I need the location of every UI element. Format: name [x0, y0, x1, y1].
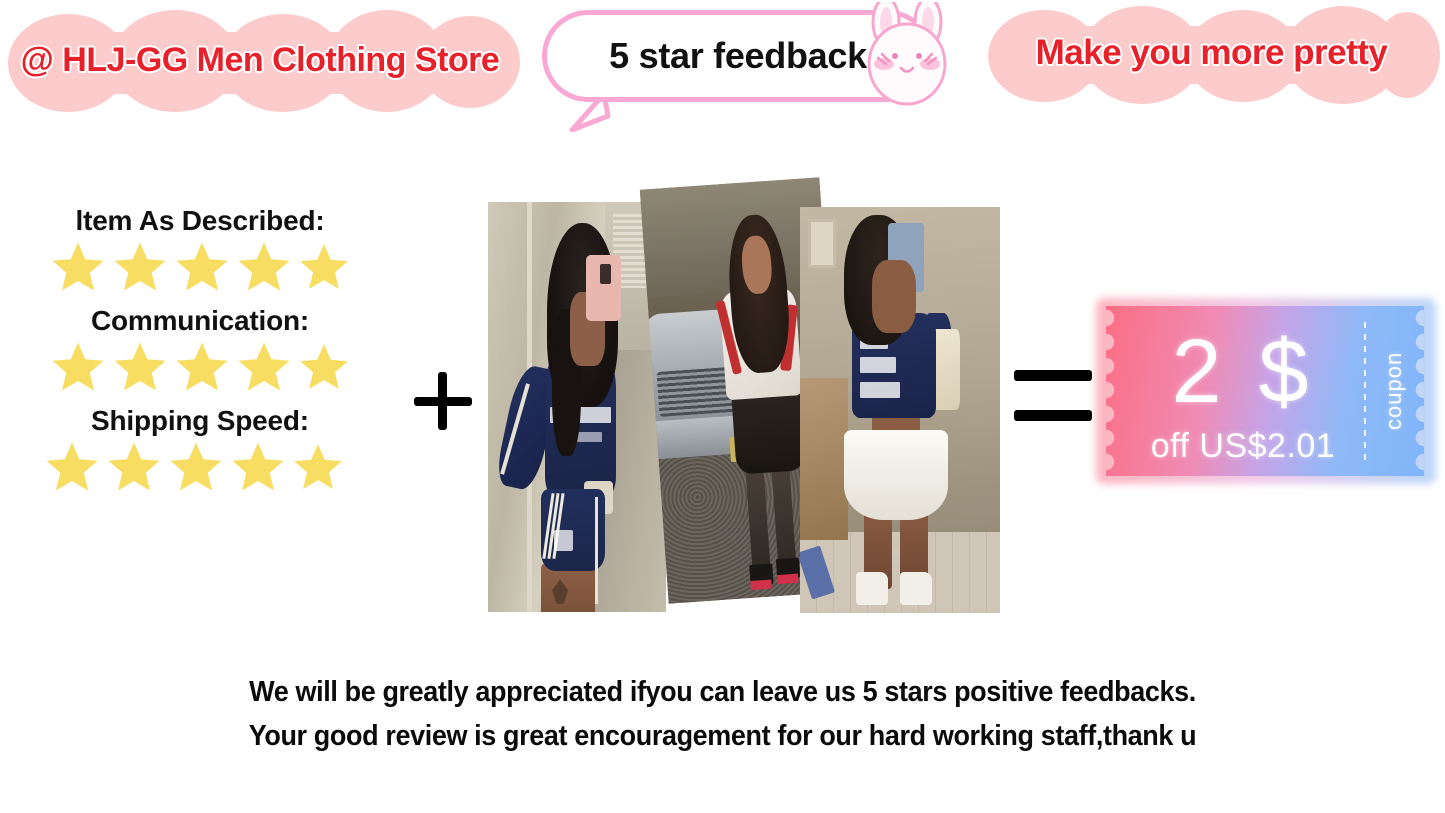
footer-message: We will be greatly appreciated ifyou can…	[0, 670, 1445, 758]
rating-label: ltem As Described:	[0, 205, 400, 237]
star-icon	[47, 237, 109, 297]
star-icon	[165, 437, 227, 497]
star-icon	[289, 439, 347, 495]
customer-photo-3	[800, 207, 1000, 613]
star-rating-row	[0, 237, 400, 297]
coupon-off-text: off US$2.01	[1124, 424, 1362, 468]
rating-label: Shipping Speed:	[0, 405, 400, 437]
slogan-banner: Make you more pretty	[978, 0, 1445, 105]
star-icon	[233, 237, 295, 297]
star-icon	[109, 337, 171, 397]
rating-communication: Communication:	[0, 305, 400, 397]
customer-photo-collage	[486, 175, 1006, 620]
store-name-text: @ HLJ-GG Men Clothing Store	[0, 6, 520, 114]
footer-line-1: We will be greatly appreciated ifyou can…	[51, 670, 1395, 714]
slogan-text: Make you more pretty	[978, 0, 1445, 105]
store-name-banner: @ HLJ-GG Men Clothing Store	[0, 6, 520, 114]
star-icon	[233, 337, 295, 397]
feedback-bubble: 5 star feedback	[540, 4, 960, 129]
customer-photo-1	[488, 202, 666, 612]
star-icon	[171, 237, 233, 297]
star-icon	[109, 237, 171, 297]
star-icon	[41, 437, 103, 497]
coupon-body: 2 $ off US$2.01 coupon	[1106, 306, 1424, 476]
star-icon	[295, 339, 353, 395]
rating-label: Communication:	[0, 305, 400, 337]
plus-icon	[414, 372, 472, 430]
star-icon	[227, 437, 289, 497]
star-icon	[103, 437, 165, 497]
feedback-bubble-text: 5 star feedback	[542, 10, 934, 102]
feedback-promo-page: @ HLJ-GG Men Clothing Store 5 star feedb…	[0, 0, 1445, 813]
star-icon	[47, 337, 109, 397]
rating-item-as-described: ltem As Described:	[0, 205, 400, 297]
equals-icon	[1014, 370, 1092, 432]
footer-line-2: Your good review is great encouragement …	[51, 714, 1395, 758]
star-icon	[295, 239, 353, 295]
coupon-ticket[interactable]: 2 $ off US$2.01 coupon	[1096, 298, 1436, 484]
ratings-panel: ltem As Described: Communication: Shippi…	[0, 205, 400, 497]
star-rating-row	[0, 337, 400, 397]
rating-shipping-speed: Shipping Speed:	[0, 405, 400, 497]
coupon-side-label: coupon	[1368, 326, 1420, 456]
coupon-amount: 2 $	[1124, 318, 1362, 426]
coupon-divider	[1364, 322, 1366, 460]
star-icon	[171, 337, 233, 397]
star-rating-row	[0, 437, 394, 497]
